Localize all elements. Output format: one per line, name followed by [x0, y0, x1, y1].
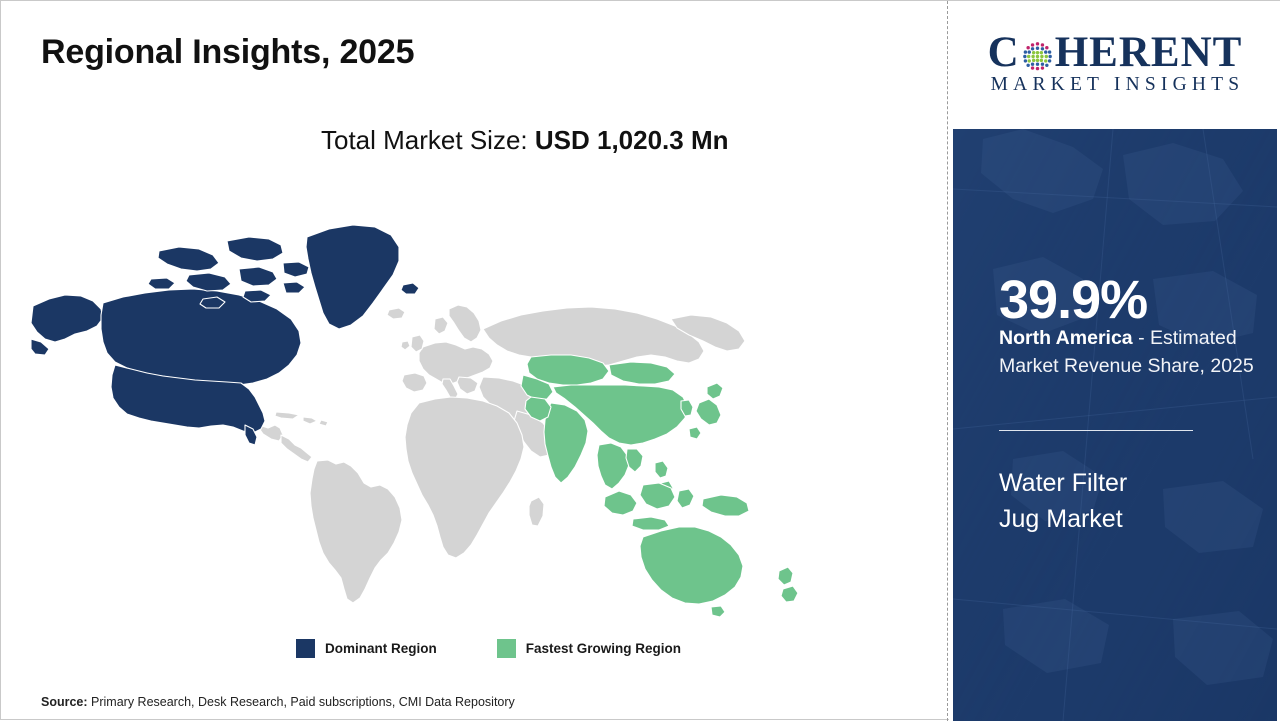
market-name-line1: Water Filter	[999, 469, 1127, 497]
legend-item-dominant: Dominant Region	[296, 639, 437, 658]
market-name-line2: Jug Market	[999, 505, 1123, 533]
page-title: Regional Insights, 2025	[41, 33, 414, 72]
source-text: Primary Research, Desk Research, Paid su…	[88, 695, 515, 709]
source-note: Source: Primary Research, Desk Research,…	[41, 695, 515, 709]
market-name: Water Filter Jug Market	[999, 466, 1259, 537]
dotted-globe-icon	[1021, 38, 1054, 71]
infographic-page: Regional Insights, 2025 Total Market Siz…	[0, 0, 1280, 720]
source-label: Source:	[41, 695, 88, 709]
region-name: North America	[999, 327, 1133, 349]
legend-swatch-fastest-growing	[497, 639, 516, 658]
map-legend: Dominant Region Fastest Growing Region	[296, 639, 681, 658]
left-content-panel: Regional Insights, 2025 Total Market Siz…	[1, 1, 948, 721]
map-growth-region-asia-pacific	[521, 355, 798, 617]
legend-label-fastest-growing: Fastest Growing Region	[526, 641, 681, 656]
world-map-svg	[31, 179, 841, 619]
map-dominant-region-north-america	[31, 225, 419, 445]
legend-item-fastest-growing: Fastest Growing Region	[497, 639, 681, 658]
panel-divider-rule	[999, 430, 1193, 431]
world-map	[31, 179, 841, 619]
panel-divider	[947, 1, 948, 721]
market-size-value: USD 1,020.3 Mn	[535, 125, 729, 155]
logo-wordmark-rest: HERENT	[1055, 31, 1243, 74]
legend-swatch-dominant	[296, 639, 315, 658]
market-share-description: North America - Estimated Market Revenue…	[999, 325, 1267, 380]
logo-tagline: MARKET INSIGHTS	[986, 75, 1245, 95]
logo-letter-c: C	[988, 31, 1020, 74]
market-share-percent: 39.9%	[999, 273, 1147, 327]
legend-label-dominant: Dominant Region	[325, 641, 437, 656]
brand-logo: C	[949, 1, 1280, 129]
market-size-label: Total Market Size:	[321, 125, 528, 155]
total-market-size: Total Market Size: USD 1,020.3 Mn	[321, 125, 729, 156]
stats-panel: 39.9% North America - Estimated Market R…	[953, 129, 1277, 721]
right-sidebar: C	[949, 1, 1280, 721]
logo-wordmark: C	[988, 31, 1243, 74]
